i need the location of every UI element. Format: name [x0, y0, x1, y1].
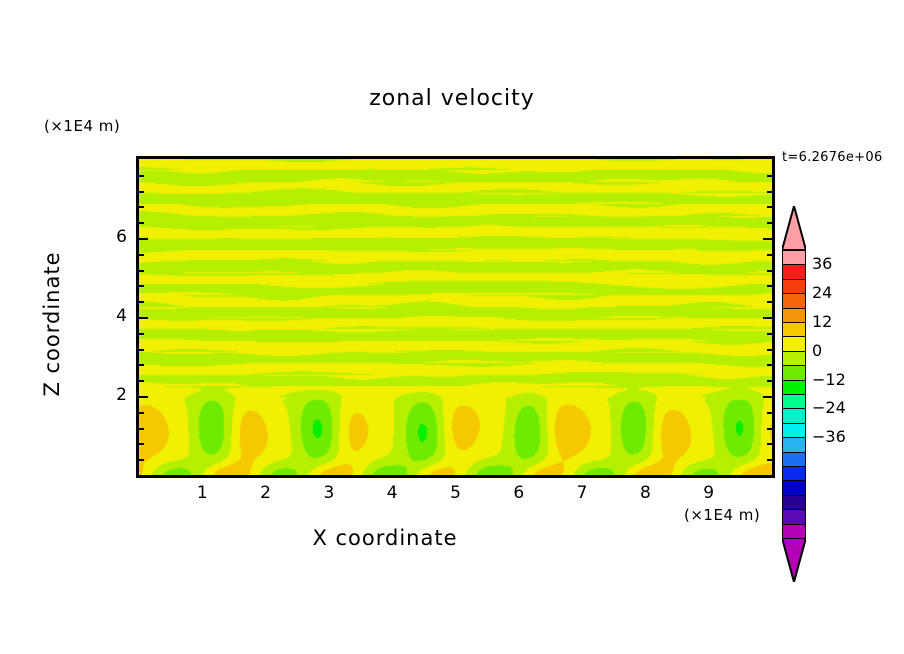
y-tick-left: [139, 206, 144, 208]
time-annotation: t=6.2676e+06: [782, 150, 883, 165]
y-tick-left: [139, 349, 144, 351]
y-tick-left: [139, 191, 144, 193]
y-tick-major-left: [139, 317, 148, 319]
y-tick-right: [767, 254, 772, 256]
y-tick-right: [767, 191, 772, 193]
x-tick-label: 4: [372, 483, 412, 503]
y-tick-right: [767, 380, 772, 382]
y-axis-unit-label: (×1E4 m): [44, 117, 120, 135]
y-tick-label: 2: [87, 385, 127, 405]
colorbar-tick-label: −12: [812, 370, 846, 389]
y-tick-major-left: [139, 238, 148, 240]
y-tick-left: [139, 443, 144, 445]
x-axis-title: X coordinate: [0, 526, 770, 550]
colorbar-tick-label: 24: [812, 283, 832, 302]
x-axis-unit-label: (×1E4 m): [684, 506, 760, 524]
y-tick-left: [139, 270, 144, 272]
y-tick-right: [767, 175, 772, 177]
y-tick-major-right: [763, 317, 772, 319]
x-tick-label: 6: [499, 483, 539, 503]
colorbar-tick-label: −36: [812, 427, 846, 446]
y-tick-left: [139, 459, 144, 461]
colorbar-tick-label: 0: [812, 341, 822, 360]
y-tick-right: [767, 270, 772, 272]
y-tick-right: [767, 428, 772, 430]
y-tick-left: [139, 333, 144, 335]
colorbar-cap-top-outline: [782, 206, 806, 250]
x-tick-label: 8: [625, 483, 665, 503]
y-tick-left: [139, 175, 144, 177]
colorbar-tick-label: −24: [812, 398, 846, 417]
y-tick-right: [767, 333, 772, 335]
x-tick-label: 2: [246, 483, 286, 503]
y-tick-right: [767, 412, 772, 414]
y-tick-right: [767, 443, 772, 445]
colorbar-tick-label: 12: [812, 312, 832, 331]
page-title: zonal velocity: [0, 86, 904, 111]
y-tick-left: [139, 380, 144, 382]
contour-plot-area: [136, 156, 775, 478]
y-tick-label: 6: [87, 227, 127, 247]
y-tick-left: [139, 285, 144, 287]
y-axis-title: Z coordinate: [40, 224, 64, 424]
x-tick-label: 5: [436, 483, 476, 503]
y-tick-major-right: [763, 238, 772, 240]
y-tick-right: [767, 206, 772, 208]
x-tick-label: 1: [182, 483, 222, 503]
y-tick-major-left: [139, 396, 148, 398]
y-tick-right: [767, 301, 772, 303]
y-tick-label: 4: [87, 306, 127, 326]
x-tick-label: 3: [309, 483, 349, 503]
y-tick-left: [139, 254, 144, 256]
y-tick-right: [767, 349, 772, 351]
x-tick-label: 7: [562, 483, 602, 503]
colorbar-cap-bottom: [782, 538, 806, 582]
y-tick-right: [767, 285, 772, 287]
contour-field: [139, 159, 772, 475]
figure-canvas: zonal velocity (×1E4 m) t=6.2676e+06 123…: [0, 0, 904, 654]
y-tick-left: [139, 301, 144, 303]
colorbar-tick-label: 36: [812, 254, 832, 273]
y-tick-major-right: [763, 396, 772, 398]
x-tick-label: 9: [689, 483, 729, 503]
y-tick-left: [139, 428, 144, 430]
y-tick-left: [139, 412, 144, 414]
y-tick-right: [767, 364, 772, 366]
y-tick-left: [139, 364, 144, 366]
y-tick-right: [767, 459, 772, 461]
y-tick-left: [139, 222, 144, 224]
y-tick-right: [767, 222, 772, 224]
